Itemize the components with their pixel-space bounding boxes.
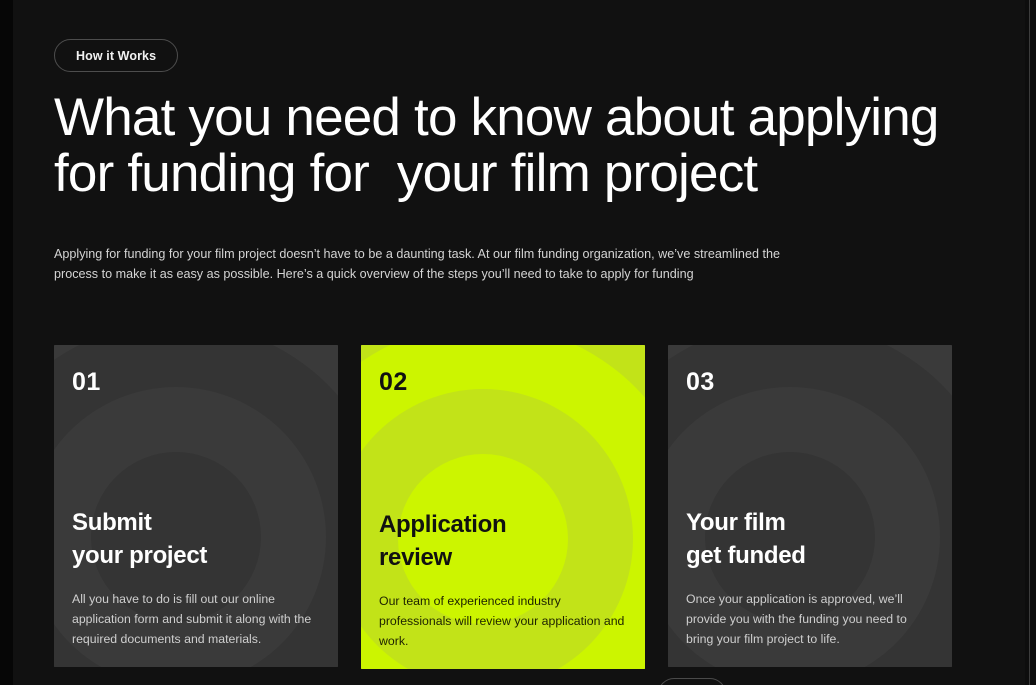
step-content: Your film get funded Once your applicati… [686,506,934,649]
step-description: Our team of experienced industry profess… [379,591,627,651]
step-content: Application review Our team of experienc… [379,508,627,651]
step-card-02[interactable]: 02 Application review Our team of experi… [361,345,645,669]
page-left-edge [0,0,13,685]
step-description: All you have to do is fill out our onlin… [72,589,320,649]
step-number: 01 [72,368,101,397]
step-content: Submit your project All you have to do i… [72,506,320,649]
step-card-03[interactable]: 03 Your film get funded Once your applic… [668,345,952,667]
step-number: 02 [379,368,408,397]
step-title: Your film get funded [686,506,934,572]
step-description: Once your application is approved, we’ll… [686,589,934,649]
badge-label: How it Works [76,49,156,63]
step-number: 03 [686,368,715,397]
step-title: Application review [379,508,627,574]
step-title: Submit your project [72,506,320,572]
page-canvas: How it Works What you need to know about… [13,0,1025,685]
steps-card-list: 01 Submit your project All you have to d… [54,345,992,669]
page-root: How it Works What you need to know about… [0,0,1036,685]
how-it-works-badge[interactable]: How it Works [54,39,178,72]
scrollbar-divider [1029,0,1030,685]
vertical-scrollbar[interactable] [1025,0,1036,685]
page-title: What you need to know about applying for… [54,90,954,202]
step-card-01[interactable]: 01 Submit your project All you have to d… [54,345,338,667]
below-fold-button[interactable] [658,678,726,685]
intro-paragraph: Applying for funding for your film proje… [54,244,784,284]
